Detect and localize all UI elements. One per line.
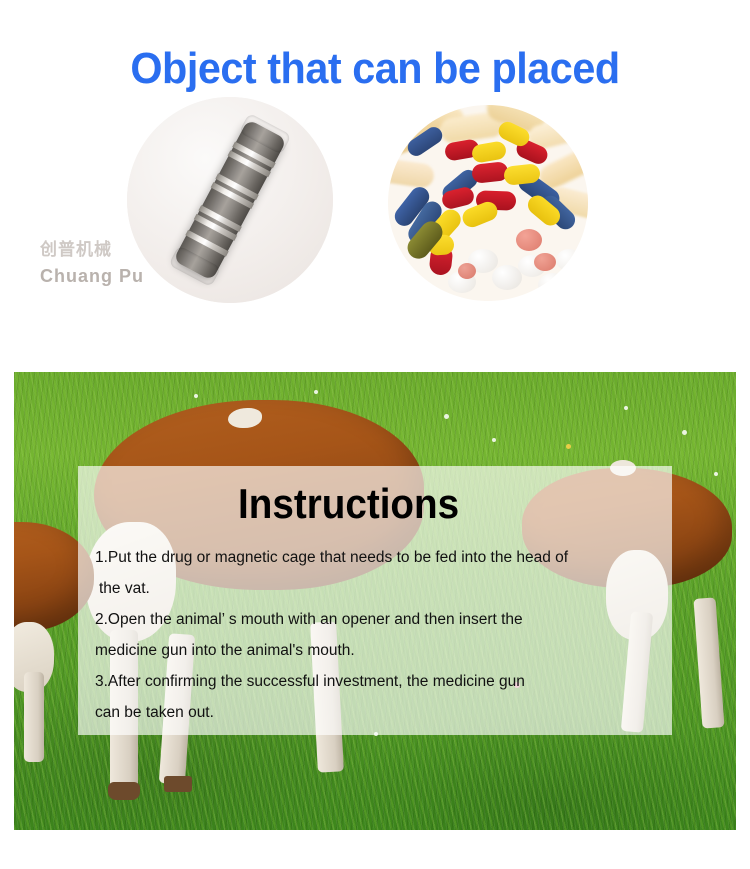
instruction-step-1-line-1: 1.Put the drug or magnetic cage that nee…: [95, 542, 665, 573]
pills-illustration: [388, 105, 588, 301]
page-title: Object that can be placed: [23, 44, 728, 94]
instruction-step-2-line-2: medicine gun into the animal's mouth.: [95, 635, 665, 666]
product-showcase: 创普机械 Chuang Pu: [0, 97, 750, 347]
instructions-steps: 1.Put the drug or magnetic cage that nee…: [95, 542, 665, 728]
instruction-step-3-line-1: 3.After confirming the successful invest…: [95, 666, 665, 697]
watermark: 创普机械 Chuang Pu: [40, 237, 144, 290]
magnetic-trap-image: [127, 97, 333, 303]
instruction-step-1-line-2: the vat.: [95, 573, 665, 604]
instructions-heading: Instructions: [238, 480, 459, 528]
instructions-panel: Instructions 1.Put the drug or magnetic …: [78, 466, 672, 735]
watermark-pinyin: Chuang Pu: [40, 263, 144, 290]
watermark-chinese: 创普机械: [40, 237, 144, 263]
instruction-step-3-line-2: can be taken out.: [95, 697, 665, 728]
veterinary-drug-image: [388, 105, 588, 301]
magnetic-trap-rod-icon: [173, 119, 287, 281]
instruction-step-2-line-1: 2.Open the animal’ s mouth with an opene…: [95, 604, 665, 635]
pasture-photo: Instructions 1.Put the drug or magnetic …: [14, 372, 736, 830]
product-detail-page: Object that can be placed 创普机械 Chuang Pu: [0, 0, 750, 869]
